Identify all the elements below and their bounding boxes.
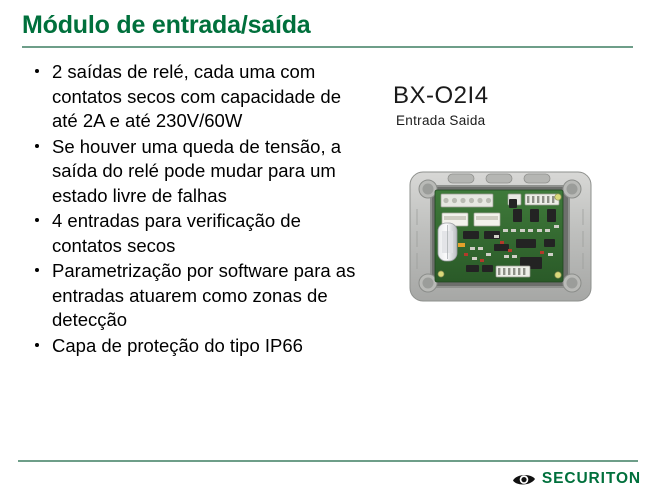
bullet-dot-icon [35, 268, 39, 272]
list-item: Parametrização por software para as entr… [30, 259, 360, 333]
list-item: 4 entradas para verificação de contatos … [30, 209, 360, 258]
bullet-dot-icon [35, 69, 39, 73]
list-item: 2 saídas de relé, cada uma com contatos … [30, 60, 360, 134]
brand-name: SECURITON [542, 470, 641, 488]
product-subtitle: Entrada Saida [396, 113, 485, 128]
bullet-dot-icon [35, 144, 39, 148]
list-item-label: 4 entradas para verificação de contatos … [52, 210, 301, 256]
slide: Módulo de entrada/saída 2 saídas de relé… [0, 0, 655, 491]
eye-icon [512, 472, 536, 487]
title-divider [22, 46, 633, 48]
list-item-label: Se houver uma queda de tensão, a saída d… [52, 136, 341, 206]
list-item: Se houver uma queda de tensão, a saída d… [30, 135, 360, 209]
list-item-label: 2 saídas de relé, cada uma com contatos … [52, 61, 341, 131]
product-photo [408, 169, 593, 304]
footer-divider [18, 460, 638, 462]
list-item-label: Parametrização por software para as entr… [52, 260, 355, 330]
bullet-dot-icon [35, 343, 39, 347]
bullet-dot-icon [35, 218, 39, 222]
list-item: Capa de proteção do tipo IP66 [30, 334, 360, 359]
feature-list: 2 saídas de relé, cada uma com contatos … [30, 60, 360, 359]
page-title: Módulo de entrada/saída [22, 11, 311, 40]
list-item-label: Capa de proteção do tipo IP66 [52, 335, 303, 356]
brand-logo: SECURITON [512, 470, 641, 488]
product-title: BX-O2I4 [393, 82, 489, 110]
